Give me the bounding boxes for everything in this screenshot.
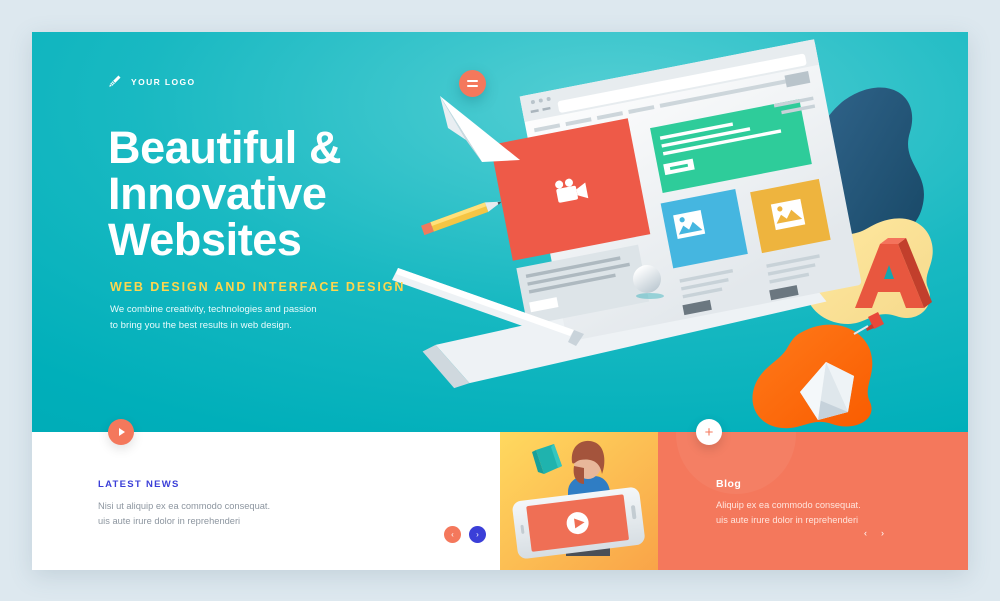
website-card: YOUR LOGO Beautiful & Innovative Website… [32,32,968,570]
page-root: YOUR LOGO Beautiful & Innovative Website… [0,0,1000,601]
hero-subheadline: WEB DESIGN AND INTERFACE DESIGN [110,280,405,294]
news-prev-button[interactable]: ‹ [444,526,461,543]
logo-text: YOUR LOGO [131,77,196,87]
bottom-strip: LATEST NEWS Nisi ut aliquip ex ea commod… [32,432,968,570]
blog-title: Blog [716,478,741,490]
logo[interactable]: YOUR LOGO [107,74,196,89]
latest-news-panel: LATEST NEWS Nisi ut aliquip ex ea commod… [32,432,500,570]
headline-line-3: Websites [108,217,478,263]
blog-body-line-1: Aliquip ex ea commodo consequat. [716,498,931,513]
play-button[interactable] [108,419,134,445]
blog-body: Aliquip ex ea commodo consequat. uis aut… [716,498,931,528]
blog-prev-button[interactable]: ‹ [864,528,867,538]
headline-line-2: Innovative [108,171,478,217]
page-title: Beautiful & Innovative Websites [108,125,478,263]
hamburger-menu-icon[interactable] [459,70,486,97]
pencil-icon [107,74,122,89]
blog-body-line-2: uis aute irure dolor in reprehenderi [716,513,931,528]
hero-paragraph: We combine creativity, technologies and … [110,302,400,333]
latest-news-body-line-1: Nisi ut aliquip ex ea commodo consequat. [98,499,328,514]
latest-news-body: Nisi ut aliquip ex ea commodo consequat.… [98,499,328,529]
orange-splash-shape [752,325,872,429]
hero-paragraph-line-2: to bring you the best results in web des… [110,318,400,334]
promo-illustration-panel[interactable] [500,432,658,570]
blog-next-button[interactable]: › [881,528,884,538]
play-icon [119,428,125,436]
blog-panel: Blog Aliquip ex ea commodo consequat. ui… [658,432,968,570]
blog-carousel-nav: ‹ › [864,528,884,538]
latest-news-title: LATEST NEWS [98,479,180,490]
headline-line-1: Beautiful & [108,125,478,171]
hero-section: YOUR LOGO Beautiful & Innovative Website… [32,32,968,432]
latest-news-carousel-nav: ‹ › [444,526,486,543]
latest-news-body-line-2: uis aute irure dolor in reprehenderi [98,514,328,529]
add-button[interactable]: + [696,419,722,445]
news-next-button[interactable]: › [469,526,486,543]
plus-icon: + [705,425,714,440]
hero-paragraph-line-1: We combine creativity, technologies and … [110,302,400,318]
